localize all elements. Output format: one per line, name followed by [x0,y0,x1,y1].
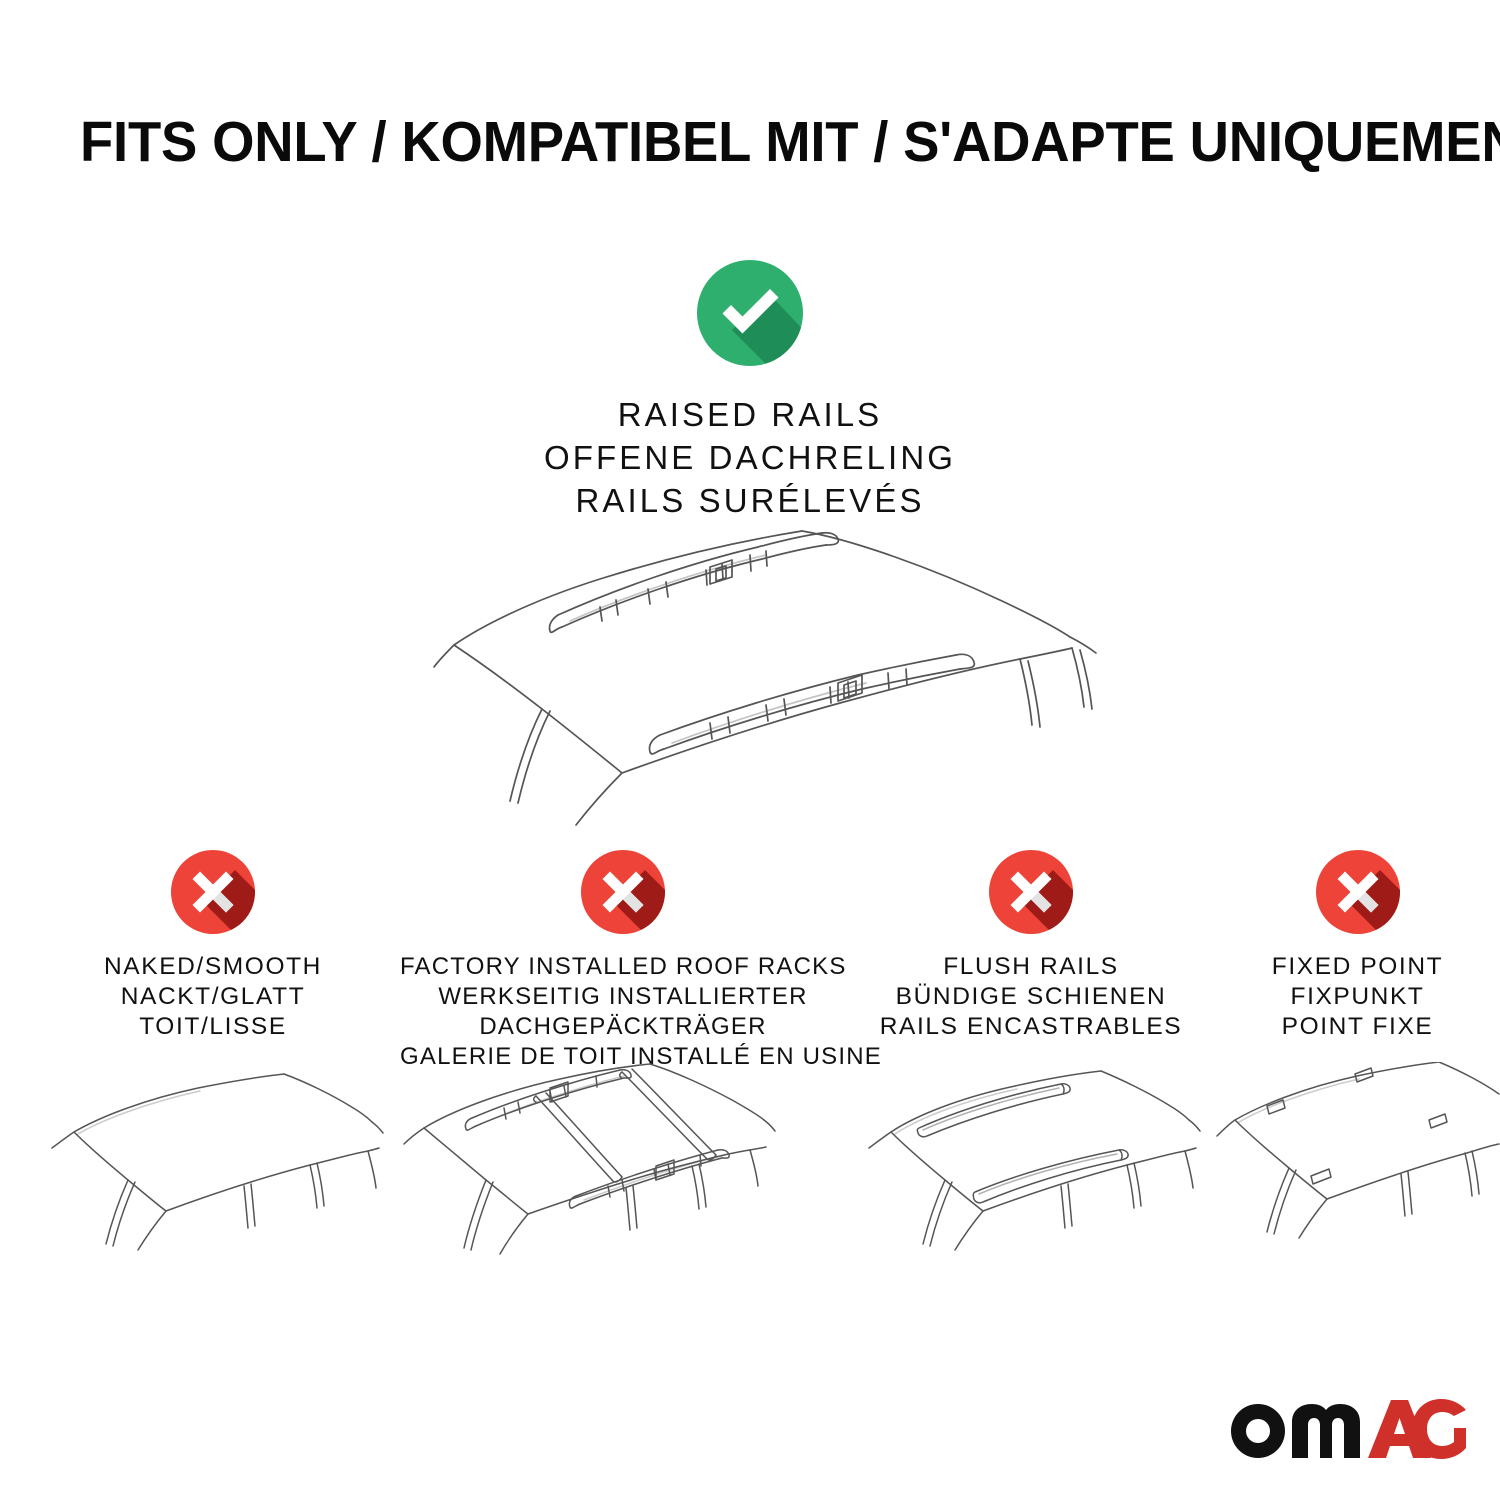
x-circle-icon [577,846,669,938]
compatible-section: RAISED RAILS OFFENE DACHRELING RAILS SUR… [0,255,1500,522]
label-line-2: BÜNDIGE SCHIENEN [855,982,1207,1012]
compatible-labels: RAISED RAILS OFFENE DACHRELING RAILS SUR… [0,393,1500,522]
x-circle-icon [1312,846,1404,938]
label-line-3: TOIT/LISSE [38,1012,388,1042]
label-line-3: POINT FIXE [1215,1012,1500,1042]
label-line-3: RAILS ENCASTRABLES [855,1012,1207,1042]
incompatible-item-factory-racks: FACTORY INSTALLED ROOF RACKS WERKSEITIG … [400,846,846,1072]
label-line-1: FLUSH RAILS [855,952,1207,982]
car-roof-factory-racks-illustration [400,1062,846,1277]
label-line-2: NACKT/GLATT [38,982,388,1012]
check-circle-icon [692,255,808,371]
omac-logo [1228,1398,1468,1460]
incompatible-item-fixed-point: FIXED POINT FIXPUNKT POINT FIXE [1215,846,1500,1042]
label-line-2: WERKSEITIG INSTALLIERTER [400,982,846,1012]
fitment-infographic: FITS ONLY / KOMPATIBEL MIT / S'ADAPTE UN… [0,0,1500,1500]
car-roof-naked-illustration [38,1062,388,1277]
compatible-label-de: OFFENE DACHRELING [0,436,1500,479]
car-roof-raised-rails-illustration [410,505,1110,835]
label-line-2: FIXPUNKT [1215,982,1500,1012]
incompatible-labels-fixed-point: FIXED POINT FIXPUNKT POINT FIXE [1215,952,1500,1042]
incompatible-labels-factory-racks: FACTORY INSTALLED ROOF RACKS WERKSEITIG … [400,952,846,1072]
page-title: FITS ONLY / KOMPATIBEL MIT / S'ADAPTE UN… [80,106,1379,178]
car-roof-fixed-point-illustration [1215,1062,1500,1277]
x-circle-icon [985,846,1077,938]
compatible-label-en: RAISED RAILS [0,393,1500,436]
incompatible-labels-flush-rails: FLUSH RAILS BÜNDIGE SCHIENEN RAILS ENCAS… [855,952,1207,1042]
label-line-3: DACHGEPÄCKTRÄGER [400,1012,846,1042]
label-line-1: FACTORY INSTALLED ROOF RACKS [400,952,846,982]
label-line-1: NAKED/SMOOTH [38,952,388,982]
incompatible-item-flush-rails: FLUSH RAILS BÜNDIGE SCHIENEN RAILS ENCAS… [855,846,1207,1042]
car-roof-flush-rails-illustration [855,1062,1207,1277]
incompatible-section: NAKED/SMOOTH NACKT/GLATT TOIT/LISSE [0,846,1500,1486]
incompatible-labels-naked-smooth: NAKED/SMOOTH NACKT/GLATT TOIT/LISSE [38,952,388,1042]
incompatible-item-naked-smooth: NAKED/SMOOTH NACKT/GLATT TOIT/LISSE [38,846,388,1042]
x-circle-icon [167,846,259,938]
label-line-1: FIXED POINT [1215,952,1500,982]
